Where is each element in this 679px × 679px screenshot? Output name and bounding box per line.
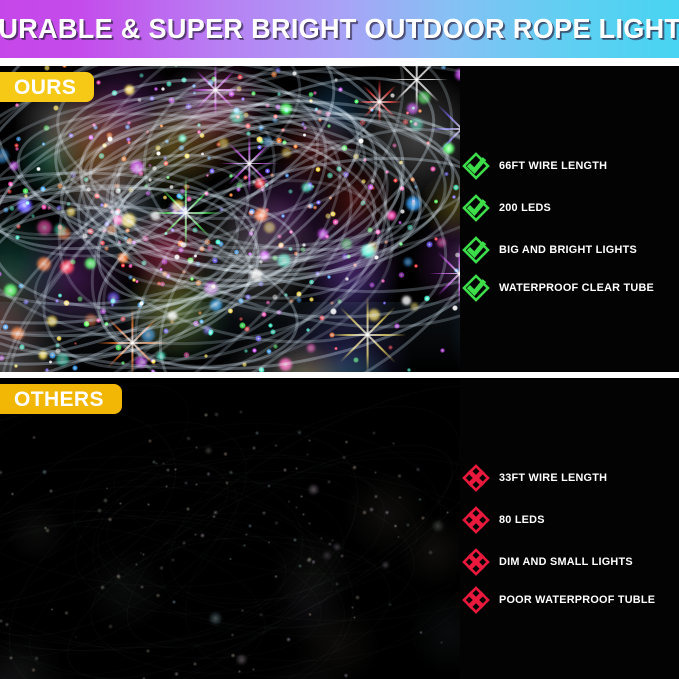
feature-label: 200 LEDS (499, 202, 551, 214)
feature-row: POOR WATERPROOF TUBLE (462, 586, 679, 614)
feature-label: POOR WATERPROOF TUBLE (499, 594, 655, 606)
check-diamond-icon (462, 236, 490, 264)
badge-ours-label: OURS (14, 77, 76, 98)
badge-others-label: OTHERS (14, 389, 104, 410)
cross-diamond-icon (462, 464, 490, 492)
photo-reflection (0, 302, 460, 372)
panel-others: OTHERS 33FT WIRE LENGTH (0, 378, 679, 679)
feature-label: DIM AND SMALL LIGHTS (499, 556, 633, 568)
header-banner: DURABLE & SUPER BRIGHT OUTDOOR ROPE LIGH… (0, 0, 679, 58)
feature-label: 66FT WIRE LENGTH (499, 160, 607, 172)
feature-row: DIM AND SMALL LIGHTS (462, 548, 679, 576)
check-diamond-icon (462, 152, 490, 180)
feature-label: 80 LEDS (499, 514, 545, 526)
header-panel-spacer (0, 58, 679, 66)
check-diamond-icon (462, 194, 490, 222)
badge-others: OTHERS (0, 384, 122, 414)
feature-list-ours: 66FT WIRE LENGTH 200 LEDS (460, 66, 679, 372)
feature-row: BIG AND BRIGHT LIGHTS (462, 236, 679, 264)
feature-row: WATERPROOF CLEAR TUBE (462, 274, 679, 302)
page-title: DURABLE & SUPER BRIGHT OUTDOOR ROPE LIGH… (0, 15, 679, 43)
feature-list-others: 33FT WIRE LENGTH 80 LEDS (460, 378, 679, 679)
cross-diamond-icon (462, 548, 490, 576)
badge-ours: OURS (0, 72, 94, 102)
check-diamond-icon (462, 274, 490, 302)
cross-diamond-icon (462, 586, 490, 614)
cross-diamond-icon (462, 506, 490, 534)
feature-row: 200 LEDS (462, 194, 679, 222)
product-photo-ours (0, 66, 460, 372)
feature-row: 33FT WIRE LENGTH (462, 464, 679, 492)
feature-label: BIG AND BRIGHT LIGHTS (499, 244, 637, 256)
panel-ours: OURS 66FT WIRE LENGTH (0, 66, 679, 372)
product-photo-others (0, 378, 460, 679)
feature-row: 66FT WIRE LENGTH (462, 152, 679, 180)
feature-label: 33FT WIRE LENGTH (499, 472, 607, 484)
feature-row: 80 LEDS (462, 506, 679, 534)
rope-light-coil-dim (0, 378, 460, 679)
feature-label: WATERPROOF CLEAR TUBE (499, 282, 654, 294)
product-comparison-infographic: DURABLE & SUPER BRIGHT OUTDOOR ROPE LIGH… (0, 0, 679, 679)
